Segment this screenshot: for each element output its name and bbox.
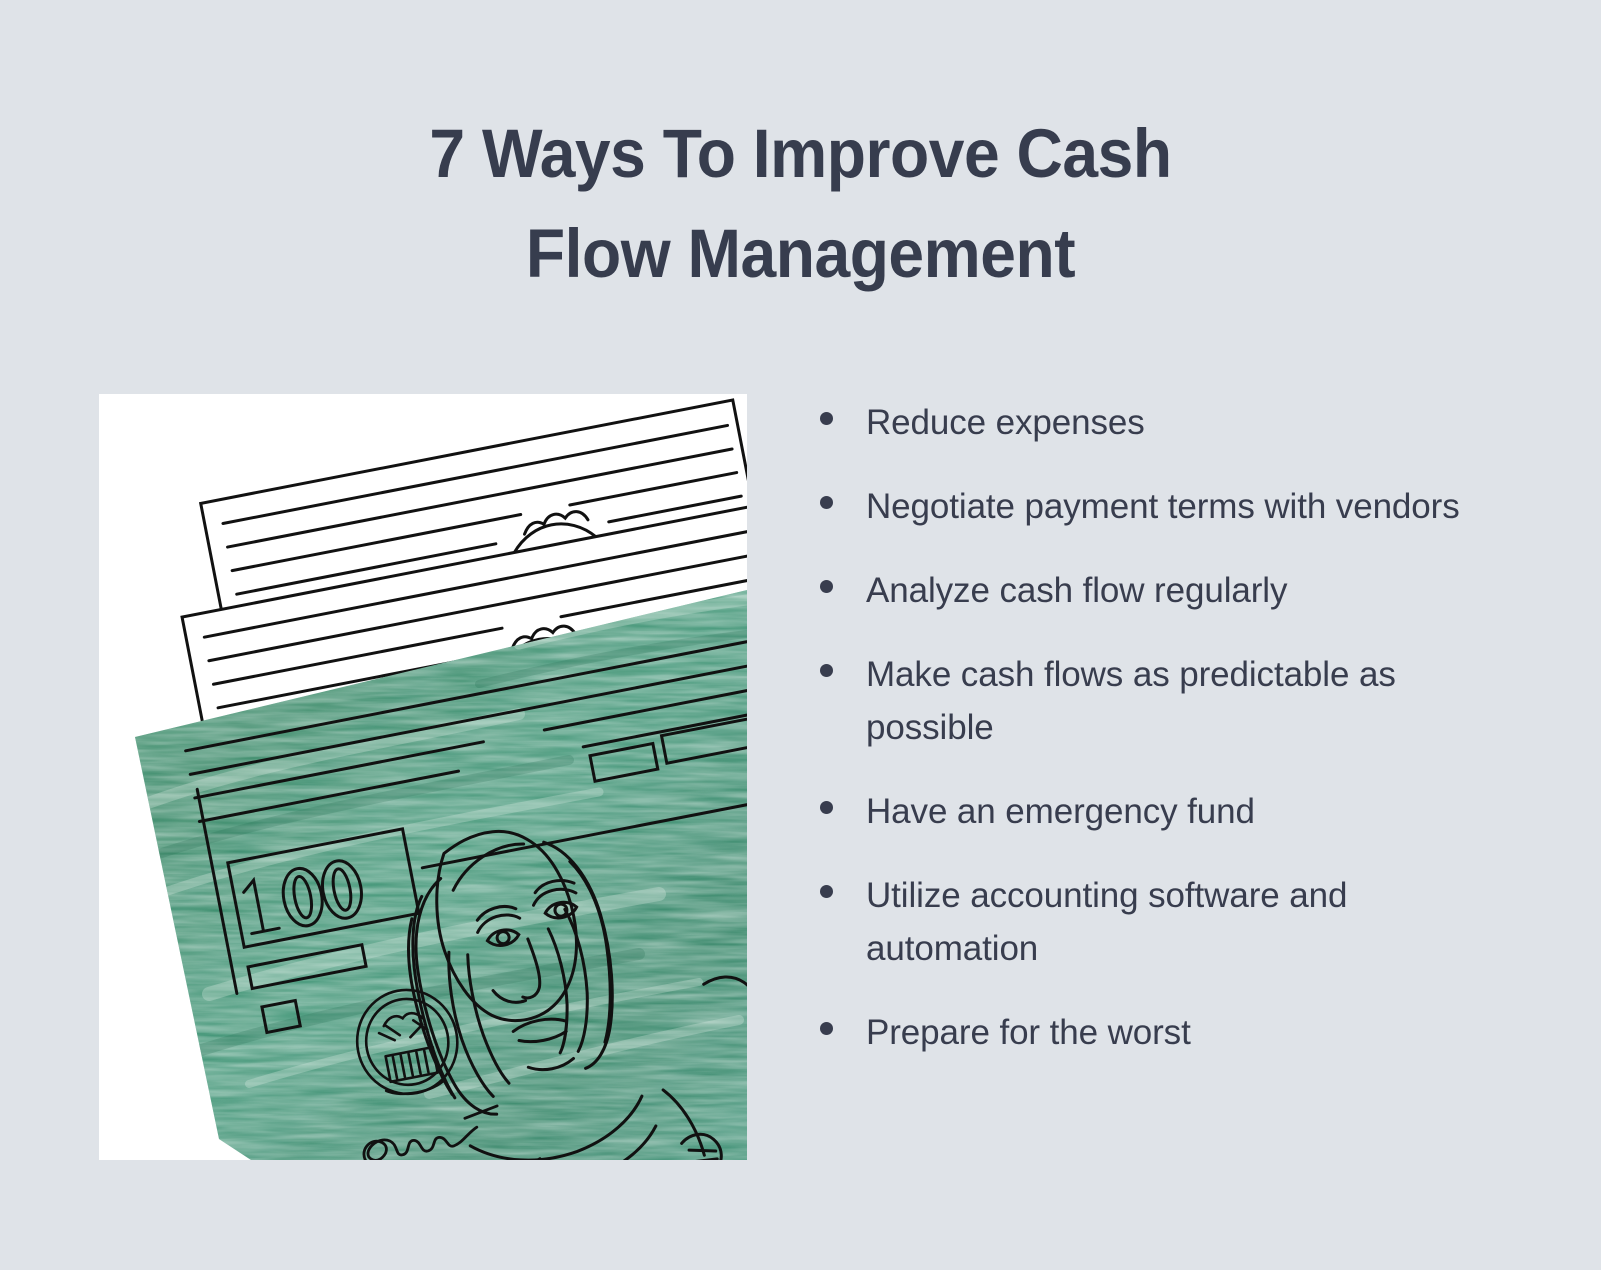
list-item: Utilize accounting software and automati… <box>820 869 1460 975</box>
list-item-label: Make cash flows as predictable as possib… <box>866 648 1460 754</box>
bullet-icon <box>820 412 833 425</box>
list-item: Have an emergency fund <box>820 785 1460 838</box>
list-item-label: Reduce expenses <box>866 396 1460 449</box>
hundred-dollar-bills-illustration <box>99 394 747 1160</box>
list-item: Analyze cash flow regularly <box>820 564 1460 617</box>
cash-flow-tips-list: Reduce expenses Negotiate payment terms … <box>820 396 1460 1059</box>
bullet-icon <box>820 801 833 814</box>
list-item: Prepare for the worst <box>820 1006 1460 1059</box>
bullet-icon <box>820 664 833 677</box>
list-item-label: Prepare for the worst <box>866 1006 1460 1059</box>
list-item-label: Utilize accounting software and automati… <box>866 869 1460 975</box>
page-title-line-2: Flow Management <box>56 204 1545 304</box>
list-item: Reduce expenses <box>820 396 1460 449</box>
list-item-label: Negotiate payment terms with vendors <box>866 480 1460 533</box>
list-item-label: Have an emergency fund <box>866 785 1460 838</box>
bullet-icon <box>820 885 833 898</box>
list-item: Negotiate payment terms with vendors <box>820 480 1460 533</box>
page-title: 7 Ways To Improve Cash Flow Management <box>0 104 1601 304</box>
infographic-root: 7 Ways To Improve Cash Flow Management <box>0 0 1601 1270</box>
bullet-icon <box>820 1022 833 1035</box>
illustration-panel <box>99 394 747 1160</box>
page-title-line-1: 7 Ways To Improve Cash <box>56 104 1545 204</box>
list-item-label: Analyze cash flow regularly <box>866 564 1460 617</box>
bullet-icon <box>820 496 833 509</box>
bullet-icon <box>820 580 833 593</box>
list-item: Make cash flows as predictable as possib… <box>820 648 1460 754</box>
